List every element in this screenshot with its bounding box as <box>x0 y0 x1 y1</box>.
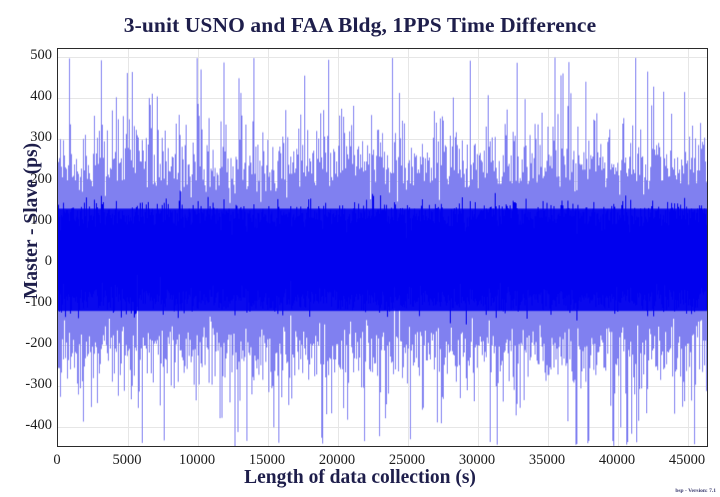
chart-figure: 3-unit USNO and FAA Bldg, 1PPS Time Diff… <box>0 0 720 497</box>
y-tick-label: 500 <box>4 47 52 64</box>
x-axis-title: Length of data collection (s) <box>0 467 720 489</box>
time-series-trace <box>58 49 707 446</box>
y-tick-label: -400 <box>4 417 52 434</box>
y-tick-label: -300 <box>4 376 52 393</box>
page-title: 3-unit USNO and FAA Bldg, 1PPS Time Diff… <box>0 13 720 38</box>
version-stamp: bsp - Version: 7.1 <box>675 488 716 494</box>
y-axis-title: Master - Slave (ps) <box>21 91 43 351</box>
plot-area <box>57 48 708 447</box>
